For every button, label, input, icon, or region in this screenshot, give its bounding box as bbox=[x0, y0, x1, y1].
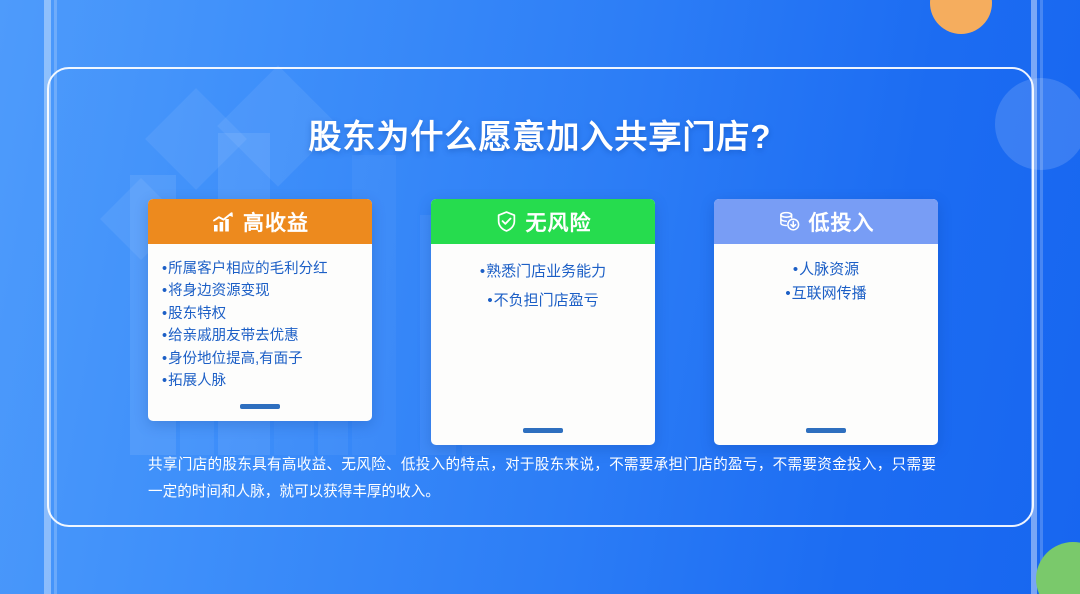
left-accent-stripe-secondary bbox=[54, 0, 57, 594]
card-body-high-returns: 所属客户相应的毛利分红 将身边资源变现 股东特权 给亲戚朋友带去优惠 身份地位提… bbox=[148, 244, 372, 421]
card-title-low-investment: 低投入 bbox=[809, 207, 875, 237]
card-body-no-risk: 熟悉门店业务能力 不负担门店盈亏 bbox=[431, 244, 655, 445]
card-bottom-dash bbox=[806, 428, 846, 433]
bar-chart-growth-icon bbox=[211, 210, 235, 234]
benefit-card-high-returns[interactable]: 高收益 所属客户相应的毛利分红 将身边资源变现 股东特权 给亲戚朋友带去优惠 身… bbox=[148, 199, 372, 421]
card-bullet-list-high-returns: 所属客户相应的毛利分红 将身边资源变现 股东特权 给亲戚朋友带去优惠 身份地位提… bbox=[162, 258, 364, 393]
left-accent-stripe bbox=[44, 0, 51, 594]
shield-check-icon bbox=[495, 210, 518, 233]
list-item: 所属客户相应的毛利分红 bbox=[162, 258, 364, 280]
list-item: 熟悉门店业务能力 bbox=[439, 258, 647, 287]
slide-canvas: 股东为什么愿意加入共享门店? 高收益 所属客户相应的毛利分 bbox=[0, 0, 1080, 594]
card-bullet-list-no-risk: 熟悉门店业务能力 不负担门店盈亏 bbox=[439, 258, 647, 315]
card-header-low-investment: 低投入 bbox=[714, 199, 938, 244]
card-header-high-returns: 高收益 bbox=[148, 199, 372, 244]
card-bottom-dash bbox=[523, 428, 563, 433]
card-title-high-returns: 高收益 bbox=[243, 207, 309, 237]
list-item: 不负担门店盈亏 bbox=[439, 287, 647, 316]
card-body-low-investment: 人脉资源 互联网传播 bbox=[714, 244, 938, 445]
list-item: 互联网传播 bbox=[722, 282, 930, 306]
benefit-card-low-investment[interactable]: 低投入 人脉资源 互联网传播 bbox=[714, 199, 938, 445]
coin-stack-download-icon bbox=[778, 210, 801, 233]
card-bottom-dash bbox=[240, 404, 280, 409]
list-item: 将身边资源变现 bbox=[162, 280, 364, 302]
page-title: 股东为什么愿意加入共享门店? bbox=[0, 110, 1080, 158]
card-bullet-list-low-investment: 人脉资源 互联网传播 bbox=[722, 258, 930, 306]
card-header-no-risk: 无风险 bbox=[431, 199, 655, 244]
summary-paragraph: 共享门店的股东具有高收益、无风险、低投入的特点，对于股东来说，不需要承担门店的盈… bbox=[148, 452, 936, 506]
list-item: 给亲戚朋友带去优惠 bbox=[162, 325, 364, 347]
list-item: 股东特权 bbox=[162, 303, 364, 325]
list-item: 身份地位提高,有面子 bbox=[162, 348, 364, 370]
benefit-card-no-risk[interactable]: 无风险 熟悉门店业务能力 不负担门店盈亏 bbox=[431, 199, 655, 445]
card-title-no-risk: 无风险 bbox=[526, 207, 592, 237]
benefit-card-list: 高收益 所属客户相应的毛利分红 将身边资源变现 股东特权 给亲戚朋友带去优惠 身… bbox=[148, 199, 938, 445]
list-item: 人脉资源 bbox=[722, 258, 930, 282]
list-item: 拓展人脉 bbox=[162, 370, 364, 392]
orange-circle-decoration bbox=[930, 0, 992, 34]
